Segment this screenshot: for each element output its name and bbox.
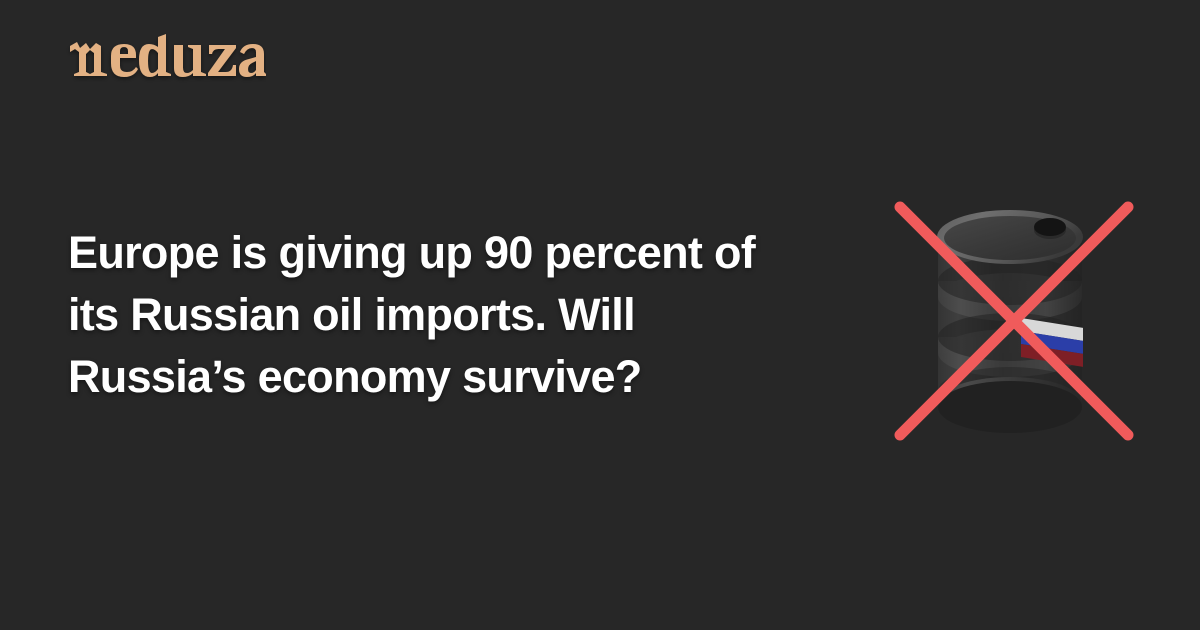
- meduza-logo[interactable]: [66, 32, 266, 84]
- headline: Europe is giving up 90 percent of its Ru…: [68, 222, 868, 408]
- crossed-out-oil-barrel-illustration: [870, 185, 1145, 455]
- social-share-card: Europe is giving up 90 percent of its Ru…: [0, 0, 1200, 630]
- headline-line-1: Europe is giving up 90 percent of: [68, 222, 868, 284]
- headline-line-2: its Russian oil imports. Will: [68, 284, 868, 346]
- headline-line-3: Russia’s economy survive?: [68, 346, 868, 408]
- barrel-base-shadow: [938, 381, 1082, 433]
- meduza-wordmark-glyphs: [70, 34, 266, 77]
- barrel-cap: [1034, 218, 1066, 236]
